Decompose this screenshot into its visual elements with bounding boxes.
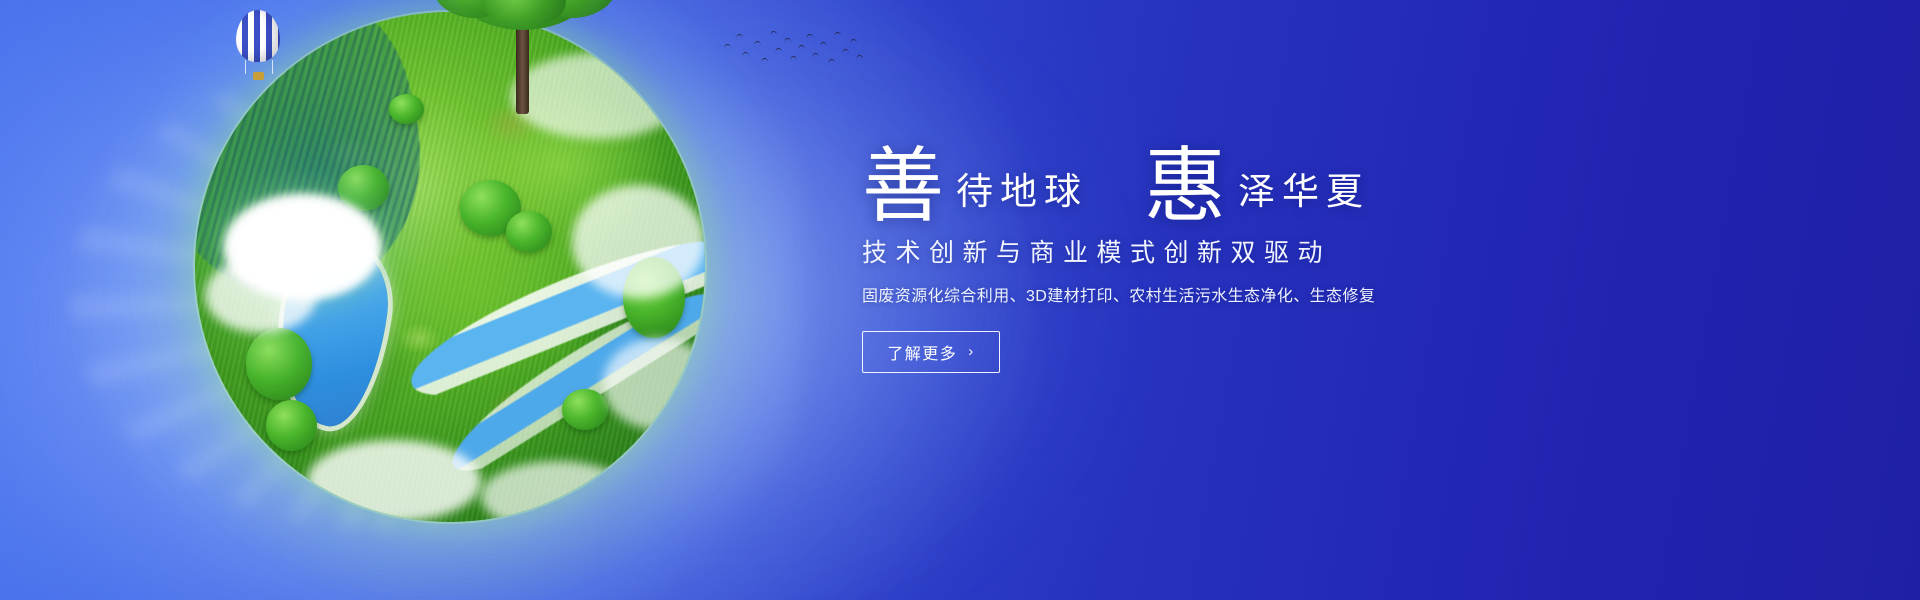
headline-phrase-two: 惠 泽华夏 [1144,142,1370,220]
headline-big-char-1: 善 [862,148,944,226]
balloon-envelope [236,10,280,62]
tree-clump-icon [246,328,312,399]
cloud-icon [603,338,705,430]
tree-trunk [516,18,529,114]
tree-clump-icon [562,389,608,430]
learn-more-button[interactable]: 了解更多 › [862,331,1000,373]
chevron-right-icon: › [968,344,975,359]
headline-big-char-2: 惠 [1144,148,1226,226]
bird-flock-icon [720,28,860,76]
cloud-icon [572,185,705,297]
hero-banner: 善 待地球 惠 泽华夏 技术创新与商业模式创新双驱动 固废资源化综合利用、3D建… [0,0,1920,600]
hero-description: 固废资源化综合利用、3D建材打印、农村生活污水生态净化、生态修复 [862,285,1582,309]
cloud-icon [307,440,480,522]
tree-clump-icon [506,211,552,252]
headline-phrase-one: 善 待地球 [862,142,1088,220]
headline-small-text-2: 泽华夏 [1226,174,1370,220]
hero-subtitle: 技术创新与商业模式创新双驱动 [862,238,1582,268]
page-title: 善 待地球 惠 泽华夏 [862,128,1582,220]
tree-icon [430,0,620,110]
balloon-basket [253,72,264,80]
hero-content: 善 待地球 惠 泽华夏 技术创新与商业模式创新双驱动 固废资源化综合利用、3D建… [862,128,1582,373]
headline-small-text-1: 待地球 [944,174,1088,220]
earth-illustration [140,0,760,600]
learn-more-label: 了解更多 [887,340,957,364]
cloud-icon [481,461,634,522]
cloud-icon [205,257,317,334]
tree-clump-icon [266,400,317,451]
hot-air-balloon-icon [236,10,280,84]
